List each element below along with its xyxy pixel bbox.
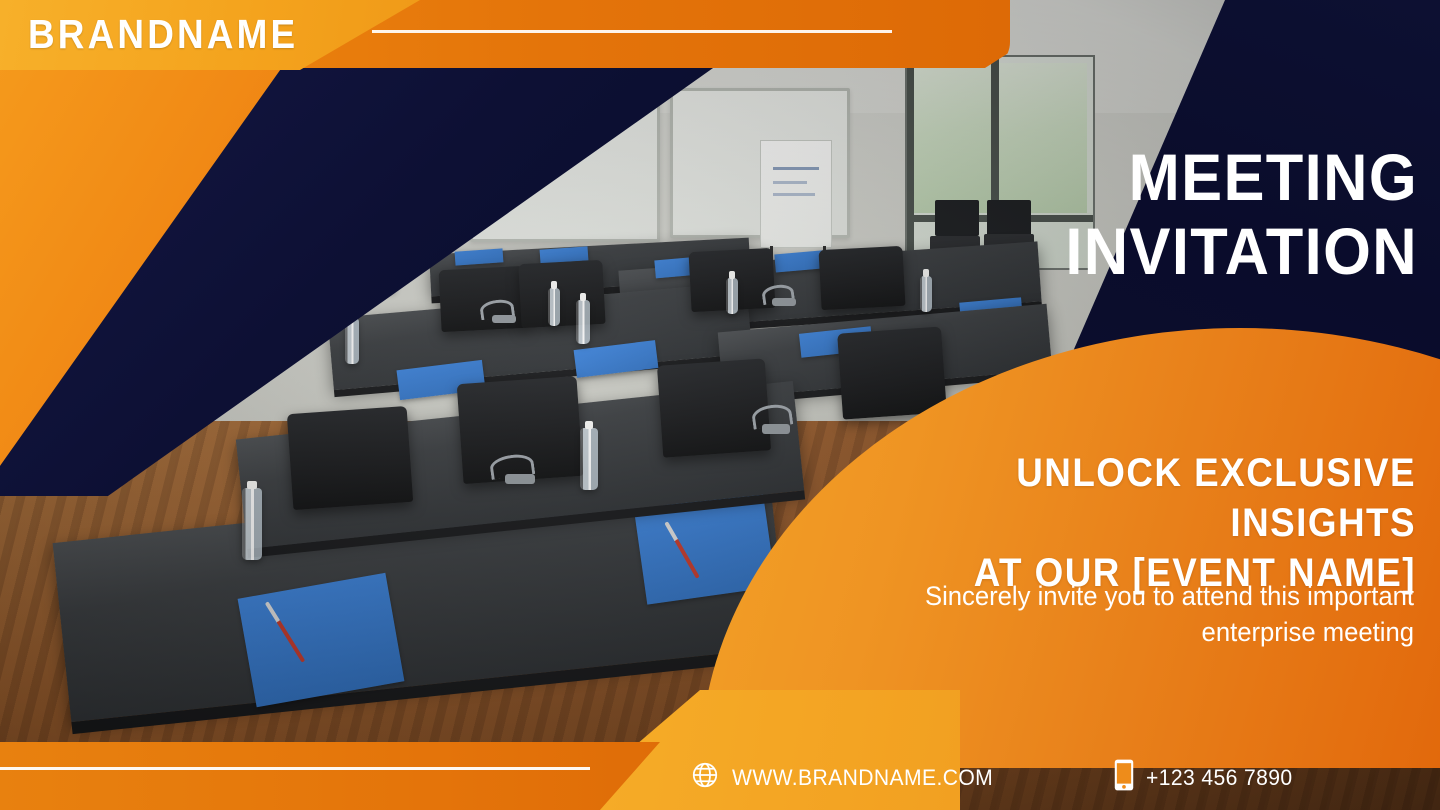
meeting-invitation-poster: BRANDNAME MEETING INVITATION UNLOCK EXCL… [0, 0, 1440, 810]
contact-website[interactable]: WWW.BRANDNAME.COM [690, 760, 1004, 795]
contact-phone[interactable]: +123 456 7890 [1114, 759, 1299, 796]
globe-icon [690, 760, 720, 795]
header-rule [372, 30, 892, 33]
poster-headline: UNLOCK EXCLUSIVE INSIGHTS AT OUR [EVENT … [836, 448, 1416, 598]
headline-line-1: UNLOCK EXCLUSIVE INSIGHTS [882, 448, 1416, 548]
mobile-phone-icon [1114, 759, 1134, 796]
footer-contacts: WWW.BRANDNAME.COM +123 456 7890 [690, 759, 1430, 796]
poster-subcopy: Sincerely invite you to attend this impo… [844, 578, 1414, 650]
title-line-1: MEETING [972, 140, 1418, 214]
website-text: WWW.BRANDNAME.COM [732, 765, 993, 791]
subcopy-line-1: Sincerely invite you to attend this impo… [844, 578, 1414, 614]
title-line-2: INVITATION [972, 214, 1418, 288]
poster-title: MEETING INVITATION [938, 140, 1418, 288]
phone-text: +123 456 7890 [1146, 765, 1293, 791]
subcopy-line-2: enterprise meeting [844, 614, 1414, 650]
footer-rule [0, 767, 590, 770]
brand-logo-text: BRANDNAME [28, 8, 298, 60]
